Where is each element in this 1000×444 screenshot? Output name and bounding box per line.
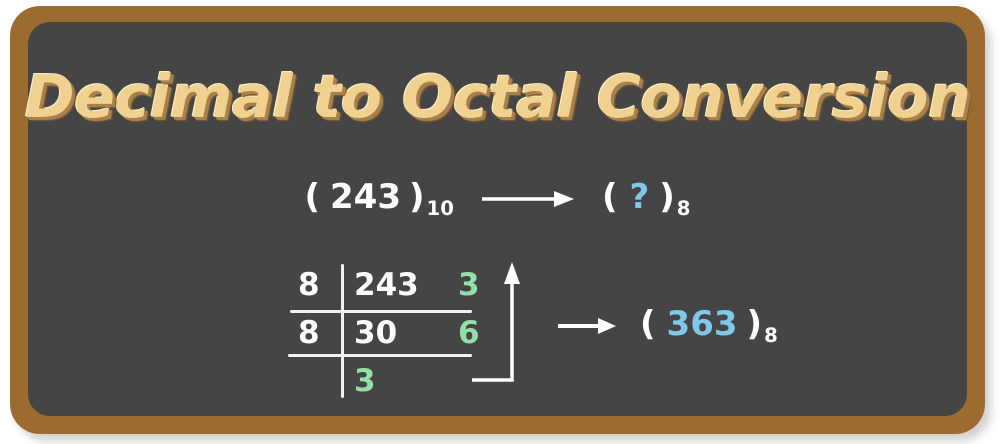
unknown-close-paren: )	[659, 177, 677, 217]
arrow-right-icon	[480, 187, 576, 211]
decimal-close-paren: )	[409, 177, 427, 217]
arrow-up-elbow-icon	[468, 260, 538, 390]
result-statement: (363)8	[556, 307, 778, 346]
division-column-divider	[341, 264, 344, 398]
arrow-right-icon	[556, 314, 618, 338]
division-dividend: 243	[354, 270, 419, 301]
division-divisor: 8	[298, 318, 320, 349]
result-close-paren: )	[747, 304, 765, 344]
page-title: Decimal to Octal Conversion	[19, 62, 977, 131]
unknown-open-paren: (	[602, 177, 620, 217]
result-value: 363	[667, 304, 738, 344]
result-open-paren: (	[640, 304, 658, 344]
octal-result-expression: (363)8	[640, 307, 778, 346]
unknown-value: ?	[630, 177, 650, 217]
division-rule	[290, 310, 472, 313]
unknown-base-subscript: 8	[677, 197, 691, 220]
division-rule	[288, 354, 472, 357]
decimal-open-paren: (	[304, 177, 322, 217]
decimal-expression: (243)10	[304, 180, 454, 219]
result-base-subscript: 8	[764, 324, 778, 347]
division-dividend: 30	[354, 318, 397, 349]
board-frame: Decimal to Octal Conversion (243)10 (?)8…	[10, 6, 985, 434]
decimal-value: 243	[330, 177, 401, 217]
division-final-quotient: 3	[354, 366, 376, 397]
decimal-base-subscript: 10	[427, 197, 454, 220]
conversion-statement: (243)10 (?)8	[28, 180, 967, 219]
division-divisor: 8	[298, 270, 320, 301]
board-panel: Decimal to Octal Conversion (243)10 (?)8…	[28, 22, 967, 416]
octal-unknown-expression: (?)8	[602, 180, 691, 219]
